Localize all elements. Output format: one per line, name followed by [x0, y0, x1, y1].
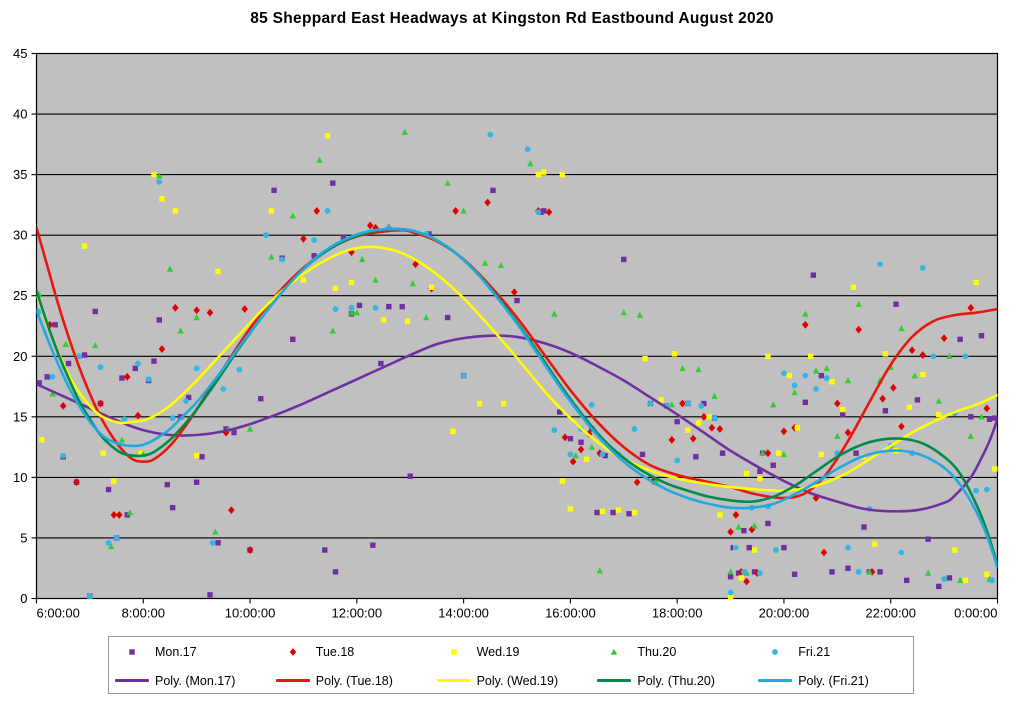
- y-tick-label: 5: [20, 530, 27, 545]
- data-point: [741, 528, 746, 533]
- data-point: [541, 169, 546, 174]
- chart-plot: 6:00:008:00:0010:00:0012:00:0014:00:0016…: [0, 0, 1024, 701]
- data-point: [883, 408, 888, 413]
- data-point: [741, 569, 747, 575]
- data-point: [957, 337, 962, 342]
- data-point: [119, 375, 124, 380]
- data-point: [728, 595, 733, 600]
- x-tick-label: 14:00:00: [438, 606, 489, 621]
- data-point: [114, 535, 120, 541]
- y-tick-label: 10: [13, 470, 27, 485]
- data-point: [861, 524, 866, 529]
- data-point: [330, 180, 335, 185]
- data-point: [156, 179, 162, 185]
- data-point: [968, 414, 973, 419]
- legend-marker-icon: [752, 646, 798, 658]
- data-point: [845, 545, 851, 551]
- chart-container: 85 Sheppard East Headways at Kingston Rd…: [0, 0, 1024, 701]
- data-point: [594, 510, 599, 515]
- data-point: [851, 285, 856, 290]
- legend-marker-icon: [591, 646, 637, 658]
- y-tick-label: 20: [13, 349, 27, 364]
- data-point: [600, 509, 605, 514]
- data-point: [207, 592, 212, 597]
- legend-trendline-label: Poly. (Tue.18): [316, 674, 393, 688]
- legend-marker-icon: [431, 646, 477, 658]
- data-point: [765, 354, 770, 359]
- data-point: [477, 401, 482, 406]
- legend-item-fri-21[interactable]: Fri.21: [752, 645, 913, 659]
- data-point: [551, 427, 557, 433]
- data-point: [907, 404, 912, 409]
- data-point: [541, 208, 546, 213]
- data-point: [429, 285, 434, 290]
- data-point: [616, 507, 621, 512]
- data-point: [349, 280, 354, 285]
- data-point: [840, 412, 845, 417]
- data-point: [263, 232, 269, 238]
- data-point: [231, 430, 236, 435]
- data-point: [487, 132, 493, 138]
- data-point: [973, 488, 979, 494]
- legend-line-icon: [431, 679, 477, 682]
- data-point: [325, 208, 331, 214]
- x-tick-label: 18:00:00: [652, 606, 703, 621]
- data-point: [87, 593, 93, 599]
- data-point: [712, 415, 718, 421]
- legend-label: Wed.19: [477, 645, 520, 659]
- data-point: [739, 575, 744, 580]
- data-point: [66, 361, 71, 366]
- data-point: [165, 482, 170, 487]
- data-point: [772, 649, 778, 655]
- data-point: [802, 373, 808, 379]
- y-axis-ticks: [32, 54, 37, 599]
- legend-line-icon: [752, 679, 798, 682]
- data-point: [50, 374, 56, 380]
- legend-marker-icon: [109, 646, 155, 658]
- data-point: [973, 280, 978, 285]
- data-point: [258, 396, 263, 401]
- x-tick-label: 22:00:00: [865, 606, 916, 621]
- legend-item-thu-20[interactable]: Thu.20: [591, 645, 752, 659]
- data-point: [947, 575, 952, 580]
- data-point: [963, 353, 969, 359]
- data-point: [987, 417, 992, 422]
- data-point: [279, 256, 285, 262]
- data-point: [93, 309, 98, 314]
- data-point: [952, 547, 957, 552]
- data-point: [111, 478, 116, 483]
- data-point: [199, 454, 204, 459]
- data-point: [405, 318, 410, 323]
- data-point: [989, 577, 995, 583]
- legend-trendline-item-fri-21[interactable]: Poly. (Fri.21): [752, 674, 913, 688]
- data-point: [44, 374, 49, 379]
- x-axis-ticks: [37, 599, 998, 604]
- data-point: [600, 451, 606, 457]
- data-point: [451, 649, 456, 654]
- data-point: [450, 429, 455, 434]
- y-tick-label: 0: [20, 591, 27, 606]
- legend-trendline-label: Poly. (Mon.17): [155, 674, 235, 688]
- data-point: [992, 466, 997, 471]
- y-tick-label: 25: [13, 288, 27, 303]
- data-point: [693, 454, 698, 459]
- data-point: [386, 304, 391, 309]
- legend-trendline-item-mon-17[interactable]: Poly. (Mon.17): [109, 674, 270, 688]
- data-point: [333, 306, 339, 312]
- data-point: [271, 188, 276, 193]
- data-point: [560, 172, 565, 177]
- data-point: [698, 403, 704, 409]
- data-point: [674, 419, 679, 424]
- data-point: [220, 386, 226, 392]
- data-point: [781, 545, 786, 550]
- data-point: [776, 450, 781, 455]
- data-point: [728, 590, 734, 596]
- data-point: [747, 545, 752, 550]
- data-point: [979, 333, 984, 338]
- data-point: [744, 471, 749, 476]
- data-point: [811, 272, 816, 277]
- data-point: [824, 375, 830, 381]
- data-point: [578, 440, 583, 445]
- data-point: [194, 480, 199, 485]
- data-point: [685, 427, 690, 432]
- data-point: [589, 402, 595, 408]
- data-point: [757, 476, 762, 481]
- data-point: [215, 540, 220, 545]
- data-point: [170, 415, 176, 421]
- data-point: [183, 398, 189, 404]
- data-point: [159, 196, 164, 201]
- data-point: [82, 352, 87, 357]
- data-point: [490, 188, 495, 193]
- legend-line-icon: [109, 679, 155, 682]
- data-point: [931, 353, 937, 359]
- data-point: [536, 172, 541, 177]
- data-point: [720, 450, 725, 455]
- data-point: [707, 414, 712, 419]
- data-point: [877, 569, 882, 574]
- data-point: [525, 146, 531, 152]
- data-point: [696, 420, 701, 425]
- legend-line-icon: [270, 679, 316, 682]
- data-point: [792, 572, 797, 577]
- data-point: [936, 412, 941, 417]
- legend-marker-icon: [270, 646, 316, 658]
- data-point: [963, 578, 968, 583]
- x-tick-label: 6:00:00: [37, 606, 80, 621]
- legend-trendline-item-wed-19[interactable]: Poly. (Wed.19): [431, 674, 592, 688]
- data-point: [129, 649, 134, 654]
- data-point: [941, 576, 947, 582]
- data-point: [39, 437, 44, 442]
- data-point: [210, 540, 216, 546]
- data-point: [349, 305, 355, 311]
- data-point: [269, 208, 274, 213]
- data-point: [146, 376, 152, 382]
- data-point: [215, 269, 220, 274]
- data-point: [733, 545, 739, 551]
- data-point: [610, 510, 615, 515]
- data-point: [893, 302, 898, 307]
- data-point: [642, 356, 647, 361]
- data-point: [445, 315, 450, 320]
- data-point: [787, 373, 792, 378]
- data-point: [52, 322, 57, 327]
- data-point: [289, 648, 296, 656]
- data-point: [829, 379, 834, 384]
- data-point: [133, 366, 138, 371]
- data-point: [311, 237, 317, 243]
- data-point: [560, 478, 565, 483]
- data-point: [765, 521, 770, 526]
- data-point: [322, 547, 327, 552]
- data-point: [567, 451, 573, 457]
- data-point: [535, 209, 541, 215]
- data-point: [853, 450, 858, 455]
- legend-trendline-label: Poly. (Fri.21): [798, 674, 869, 688]
- data-point: [381, 317, 386, 322]
- chart-legend: Mon.17Tue.18Wed.19Thu.20Fri.21 Poly. (Mo…: [108, 636, 914, 694]
- data-point: [808, 354, 813, 359]
- data-point: [408, 473, 413, 478]
- data-point: [795, 425, 800, 430]
- legend-item-wed-19[interactable]: Wed.19: [431, 645, 592, 659]
- data-point: [877, 261, 883, 267]
- x-tick-label: 12:00:00: [332, 606, 383, 621]
- y-tick-label: 35: [13, 167, 27, 182]
- data-point: [685, 401, 691, 407]
- data-point: [106, 540, 112, 546]
- data-point: [98, 364, 104, 370]
- data-point: [194, 453, 199, 458]
- data-point: [792, 382, 798, 388]
- data-point: [135, 361, 141, 367]
- data-point: [845, 566, 850, 571]
- data-point: [717, 512, 722, 517]
- data-point: [370, 543, 375, 548]
- data-point: [856, 569, 862, 575]
- data-point: [640, 452, 645, 457]
- data-point: [840, 407, 845, 412]
- data-point: [632, 426, 638, 432]
- x-tick-label: 16:00:00: [545, 606, 596, 621]
- data-point: [781, 370, 787, 376]
- y-axis-labels: 051015202530354045: [13, 46, 27, 606]
- x-tick-label: 8:00:00: [122, 606, 165, 621]
- data-point: [752, 547, 757, 552]
- data-point: [373, 305, 379, 311]
- legend-item-tue-18[interactable]: Tue.18: [270, 645, 431, 659]
- data-point: [728, 574, 733, 579]
- x-tick-label: 20:00:00: [759, 606, 810, 621]
- data-point: [157, 317, 162, 322]
- data-point: [611, 648, 617, 654]
- data-point: [757, 570, 763, 576]
- data-point: [819, 452, 824, 457]
- data-point: [621, 257, 626, 262]
- data-point: [101, 450, 106, 455]
- data-point: [813, 386, 819, 392]
- data-point: [648, 401, 654, 407]
- data-point: [925, 536, 930, 541]
- data-point: [626, 511, 631, 516]
- data-point: [151, 172, 156, 177]
- data-point: [325, 133, 330, 138]
- legend-label: Fri.21: [798, 645, 830, 659]
- legend-item-mon-17[interactable]: Mon.17: [109, 645, 270, 659]
- legend-label: Thu.20: [637, 645, 676, 659]
- legend-trendline-item-tue-18[interactable]: Poly. (Tue.18): [270, 674, 431, 688]
- legend-marker-row: Mon.17Tue.18Wed.19Thu.20Fri.21: [109, 637, 913, 666]
- data-point: [400, 304, 405, 309]
- data-point: [333, 569, 338, 574]
- data-point: [632, 510, 637, 515]
- data-point: [773, 547, 779, 553]
- data-point: [883, 351, 888, 356]
- data-point: [461, 373, 467, 379]
- data-point: [584, 457, 589, 462]
- data-point: [915, 397, 920, 402]
- data-point: [872, 541, 877, 546]
- legend-line-icon: [591, 679, 637, 682]
- data-point: [301, 277, 306, 282]
- data-point: [672, 351, 677, 356]
- data-point: [819, 373, 824, 378]
- data-point: [60, 453, 66, 459]
- data-point: [151, 358, 156, 363]
- data-point: [803, 400, 808, 405]
- data-point: [290, 337, 295, 342]
- plot-background: [37, 54, 998, 599]
- data-point: [357, 303, 362, 308]
- data-point: [674, 458, 680, 464]
- data-point: [194, 365, 200, 371]
- y-tick-label: 30: [13, 228, 27, 243]
- y-tick-label: 45: [13, 46, 27, 61]
- x-tick-label: 0:00:00: [954, 606, 997, 621]
- data-point: [106, 487, 111, 492]
- data-point: [771, 463, 776, 468]
- legend-line-row: Poly. (Mon.17)Poly. (Tue.18)Poly. (Wed.1…: [109, 666, 913, 695]
- data-point: [501, 401, 506, 406]
- data-point: [568, 436, 573, 441]
- data-point: [568, 506, 573, 511]
- x-tick-label: 10:00:00: [225, 606, 276, 621]
- data-point: [170, 505, 175, 510]
- data-point: [904, 578, 909, 583]
- legend-trendline-label: Poly. (Wed.19): [477, 674, 559, 688]
- legend-label: Tue.18: [316, 645, 354, 659]
- data-point: [829, 569, 834, 574]
- data-point: [899, 550, 905, 556]
- data-point: [920, 372, 925, 377]
- y-tick-label: 40: [13, 107, 27, 122]
- data-point: [920, 265, 926, 271]
- data-point: [984, 487, 990, 493]
- legend-trendline-item-thu-20[interactable]: Poly. (Thu.20): [591, 674, 752, 688]
- data-point: [936, 584, 941, 589]
- data-point: [984, 572, 989, 577]
- y-tick-label: 15: [13, 409, 27, 424]
- legend-label: Mon.17: [155, 645, 197, 659]
- x-axis-labels: 6:00:008:00:0010:00:0012:00:0014:00:0016…: [37, 606, 998, 621]
- data-point: [514, 298, 519, 303]
- legend-trendline-label: Poly. (Thu.20): [637, 674, 715, 688]
- data-point: [82, 243, 87, 248]
- data-point: [378, 361, 383, 366]
- data-point: [236, 367, 242, 373]
- data-point: [173, 208, 178, 213]
- data-point: [333, 286, 338, 291]
